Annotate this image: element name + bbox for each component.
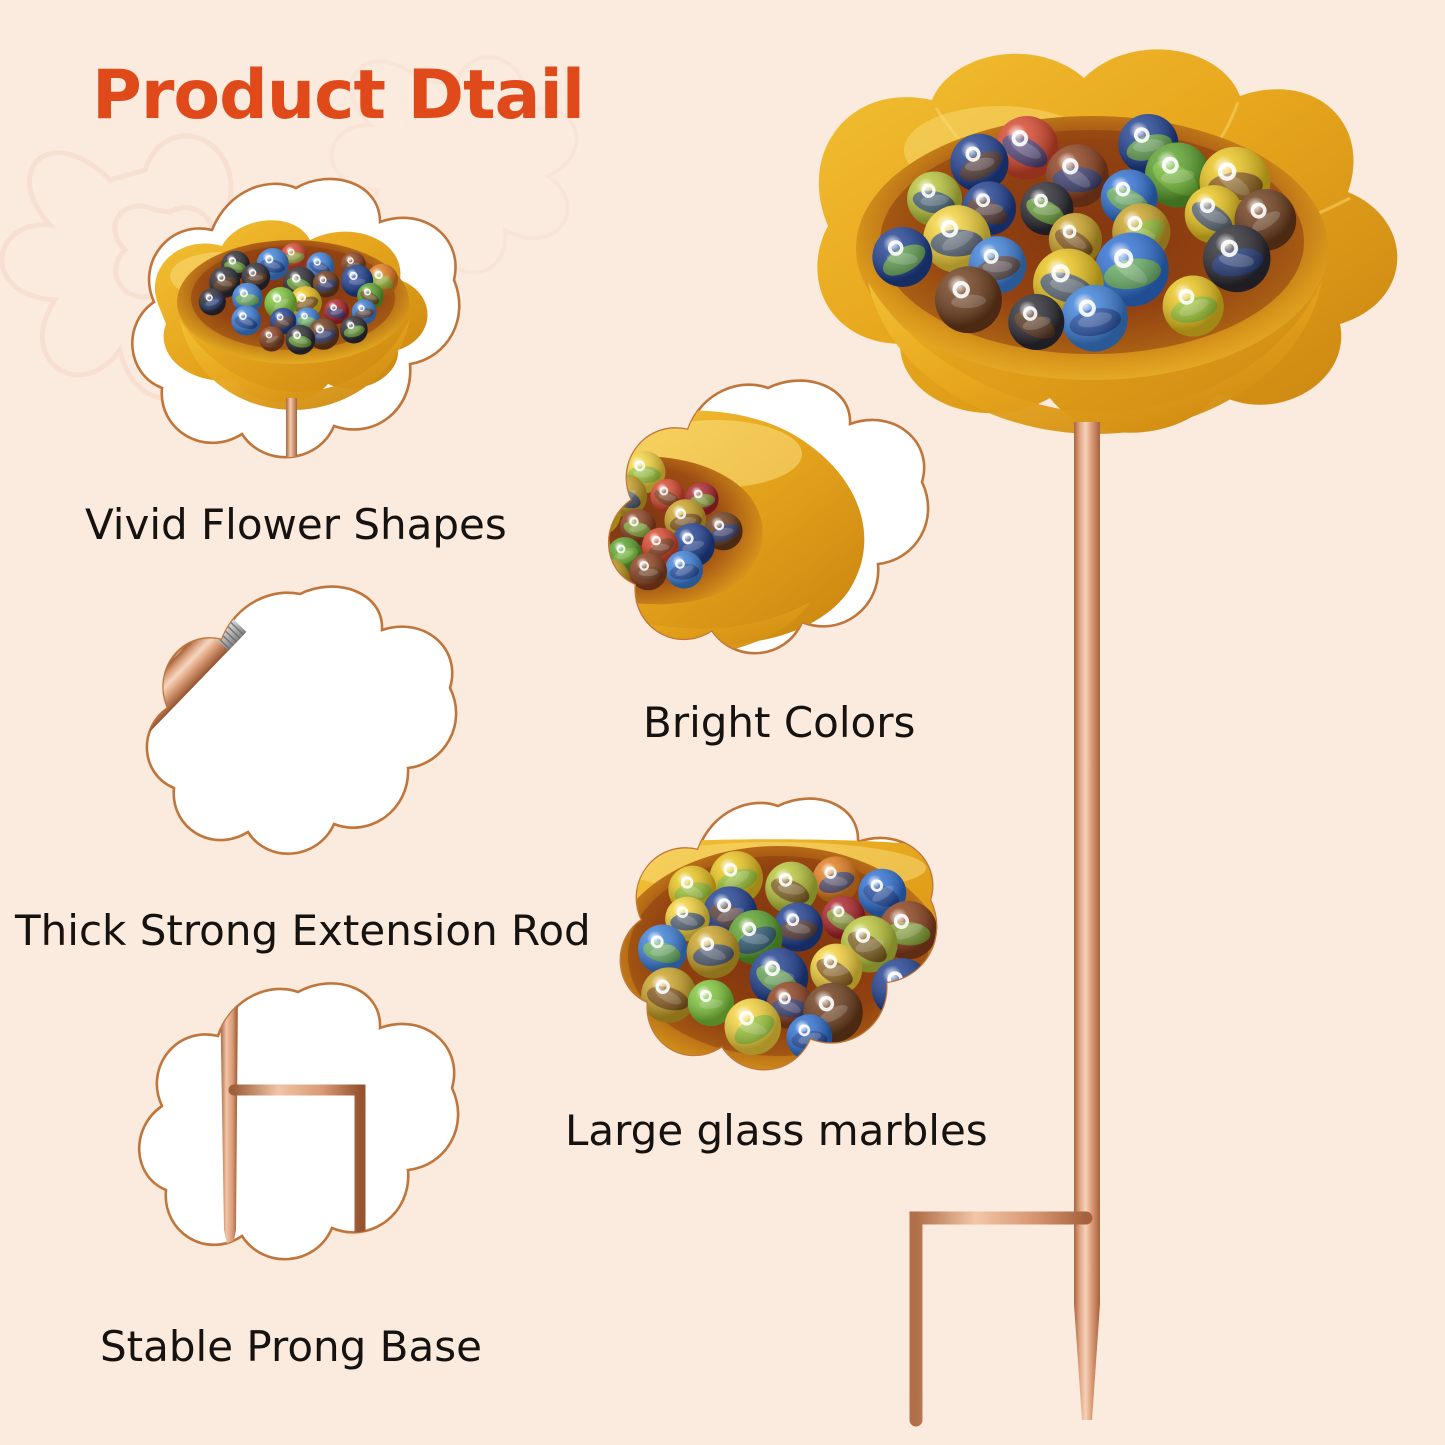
badge-flower-shape — [147, 587, 456, 854]
hero-stake-tip — [1074, 1304, 1100, 1420]
glass-marble — [1061, 285, 1128, 352]
glass-marble — [638, 925, 687, 974]
glass-marble — [570, 525, 610, 565]
glass-marble — [538, 510, 582, 554]
glass-marble — [812, 856, 859, 903]
callout-vivid-flower-shapes[interactable] — [118, 172, 473, 492]
glass-marble — [576, 491, 621, 536]
glass-marble — [786, 1014, 832, 1060]
badge-stem — [286, 398, 297, 474]
glass-marble — [725, 998, 782, 1055]
glass-marble — [1203, 225, 1270, 292]
hero-prong-bracket — [916, 1218, 1086, 1420]
badge-flower-shape — [139, 983, 458, 1259]
glass-marble — [285, 325, 315, 355]
glass-marble — [935, 266, 1002, 333]
glass-marble — [589, 559, 630, 600]
callout-bright-colors[interactable] — [596, 376, 946, 686]
glass-marble — [872, 958, 932, 1018]
callout-stable-prong-base[interactable] — [124, 978, 474, 1298]
glass-marble — [199, 288, 226, 315]
page-title: Product Dtail — [92, 56, 584, 135]
product-detail-canvas: Product Dtail — [0, 0, 1445, 1445]
glass-marble — [259, 326, 284, 351]
glass-marble — [231, 306, 261, 336]
glass-marble — [340, 316, 368, 344]
caption-large-glass-marbles: Large glass marbles — [565, 1106, 988, 1155]
callout-thick-strong-extension-rod[interactable] — [132, 582, 472, 882]
glass-marble — [665, 551, 703, 589]
caption-thick-strong-extension-rod: Thick Strong Extension Rod — [15, 906, 591, 955]
glass-marble — [1163, 276, 1224, 337]
glass-marble — [872, 227, 932, 287]
caption-bright-colors: Bright Colors — [643, 698, 915, 747]
glass-marble — [1008, 294, 1064, 350]
callout-large-glass-marbles[interactable] — [606, 796, 956, 1096]
glass-marble — [641, 967, 696, 1022]
glass-marble — [687, 926, 740, 979]
caption-vivid-flower-shapes: Vivid Flower Shapes — [85, 500, 507, 549]
caption-stable-prong-base: Stable Prong Base — [100, 1322, 482, 1371]
hero-extension-rod — [1074, 422, 1100, 1304]
